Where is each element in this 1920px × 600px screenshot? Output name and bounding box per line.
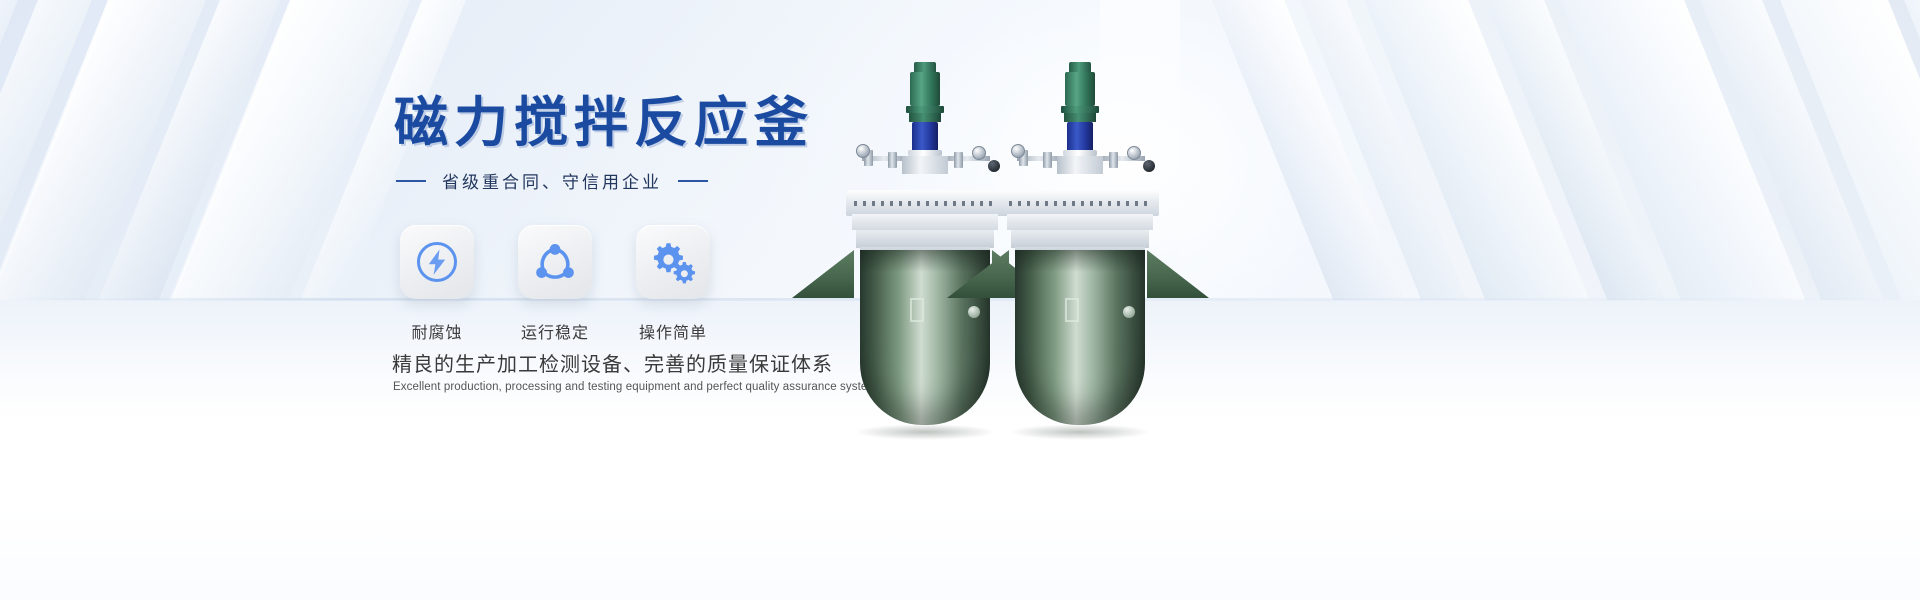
feature-item-simple-operation[interactable]: 操作简单 xyxy=(636,225,710,343)
top-flange-lower xyxy=(852,214,998,230)
product-hero-banner: 磁力搅拌反应釜 省级重合同、守信用企业 耐腐蚀 xyxy=(0,0,1920,600)
motor-flange xyxy=(1061,106,1099,113)
lightning-bolt-icon xyxy=(414,239,460,285)
magnetic-stirring-reactor-right xyxy=(995,50,1185,450)
feature-label: 操作简单 xyxy=(639,319,707,343)
pressure-gauge-left xyxy=(1011,144,1025,158)
pressure-gauge-right xyxy=(972,146,986,160)
vessel-shading xyxy=(1015,250,1145,272)
tagline-chinese: 精良的生产加工检测设备、完善的质量保证体系 xyxy=(392,348,833,377)
reactor-vessel xyxy=(1015,250,1145,425)
vessel-shading xyxy=(860,250,990,272)
feature-tile xyxy=(400,225,474,299)
nozzle-left xyxy=(888,152,897,168)
vessel-ground-shadow xyxy=(854,424,996,440)
feature-tile xyxy=(518,225,592,299)
pressure-gauge-left xyxy=(856,144,870,158)
product-image-group xyxy=(830,50,1230,470)
vessel-sight-port xyxy=(1123,306,1135,318)
drive-motor xyxy=(1065,72,1095,106)
feature-item-corrosion-resistant[interactable]: 耐腐蚀 xyxy=(400,225,474,343)
vessel-nameplate xyxy=(1065,298,1079,322)
motor-flange-lower xyxy=(1064,113,1096,122)
flange-bolts xyxy=(1009,201,1151,206)
vessel-collar xyxy=(856,230,994,248)
magnetic-coupling xyxy=(1067,122,1093,152)
vessel-collar xyxy=(1011,230,1149,248)
feature-tile xyxy=(636,225,710,299)
gears-icon xyxy=(649,239,697,285)
feature-item-stable-operation[interactable]: 运行稳定 xyxy=(518,225,592,343)
vessel-neck xyxy=(1057,156,1103,174)
feature-label: 运行稳定 xyxy=(521,319,589,343)
rule-right-icon xyxy=(678,180,708,182)
drive-motor xyxy=(910,72,940,106)
feature-list: 耐腐蚀 运行稳定 xyxy=(400,225,710,343)
nozzle-right xyxy=(954,152,963,168)
nozzle-right xyxy=(1109,152,1118,168)
page-title: 磁力搅拌反应釜 xyxy=(394,96,814,150)
banner-content: 磁力搅拌反应釜 省级重合同、守信用企业 耐腐蚀 xyxy=(0,0,900,600)
magnetic-coupling xyxy=(912,122,938,152)
reactor-vessel xyxy=(860,250,990,425)
vessel-nameplate xyxy=(910,298,924,322)
feature-label: 耐腐蚀 xyxy=(411,319,462,343)
network-nodes-icon xyxy=(532,239,578,285)
subtitle-row: 省级重合同、守信用企业 xyxy=(396,168,708,193)
flange-bolts xyxy=(854,201,996,206)
motor-flange xyxy=(906,106,944,113)
motor-flange-lower xyxy=(909,113,941,122)
vessel-sight-port xyxy=(968,306,980,318)
pressure-gauge-right xyxy=(1127,146,1141,160)
support-bracket-right xyxy=(1147,250,1209,298)
rule-left-icon xyxy=(396,180,426,182)
top-flange-lower xyxy=(1007,214,1153,230)
vessel-neck xyxy=(902,156,948,174)
tagline-english: Excellent production, processing and tes… xyxy=(393,381,877,393)
banner-subtitle: 省级重合同、守信用企业 xyxy=(442,168,662,193)
nozzle-left xyxy=(1043,152,1052,168)
vessel-ground-shadow xyxy=(1009,424,1151,440)
control-knob xyxy=(1143,160,1155,172)
